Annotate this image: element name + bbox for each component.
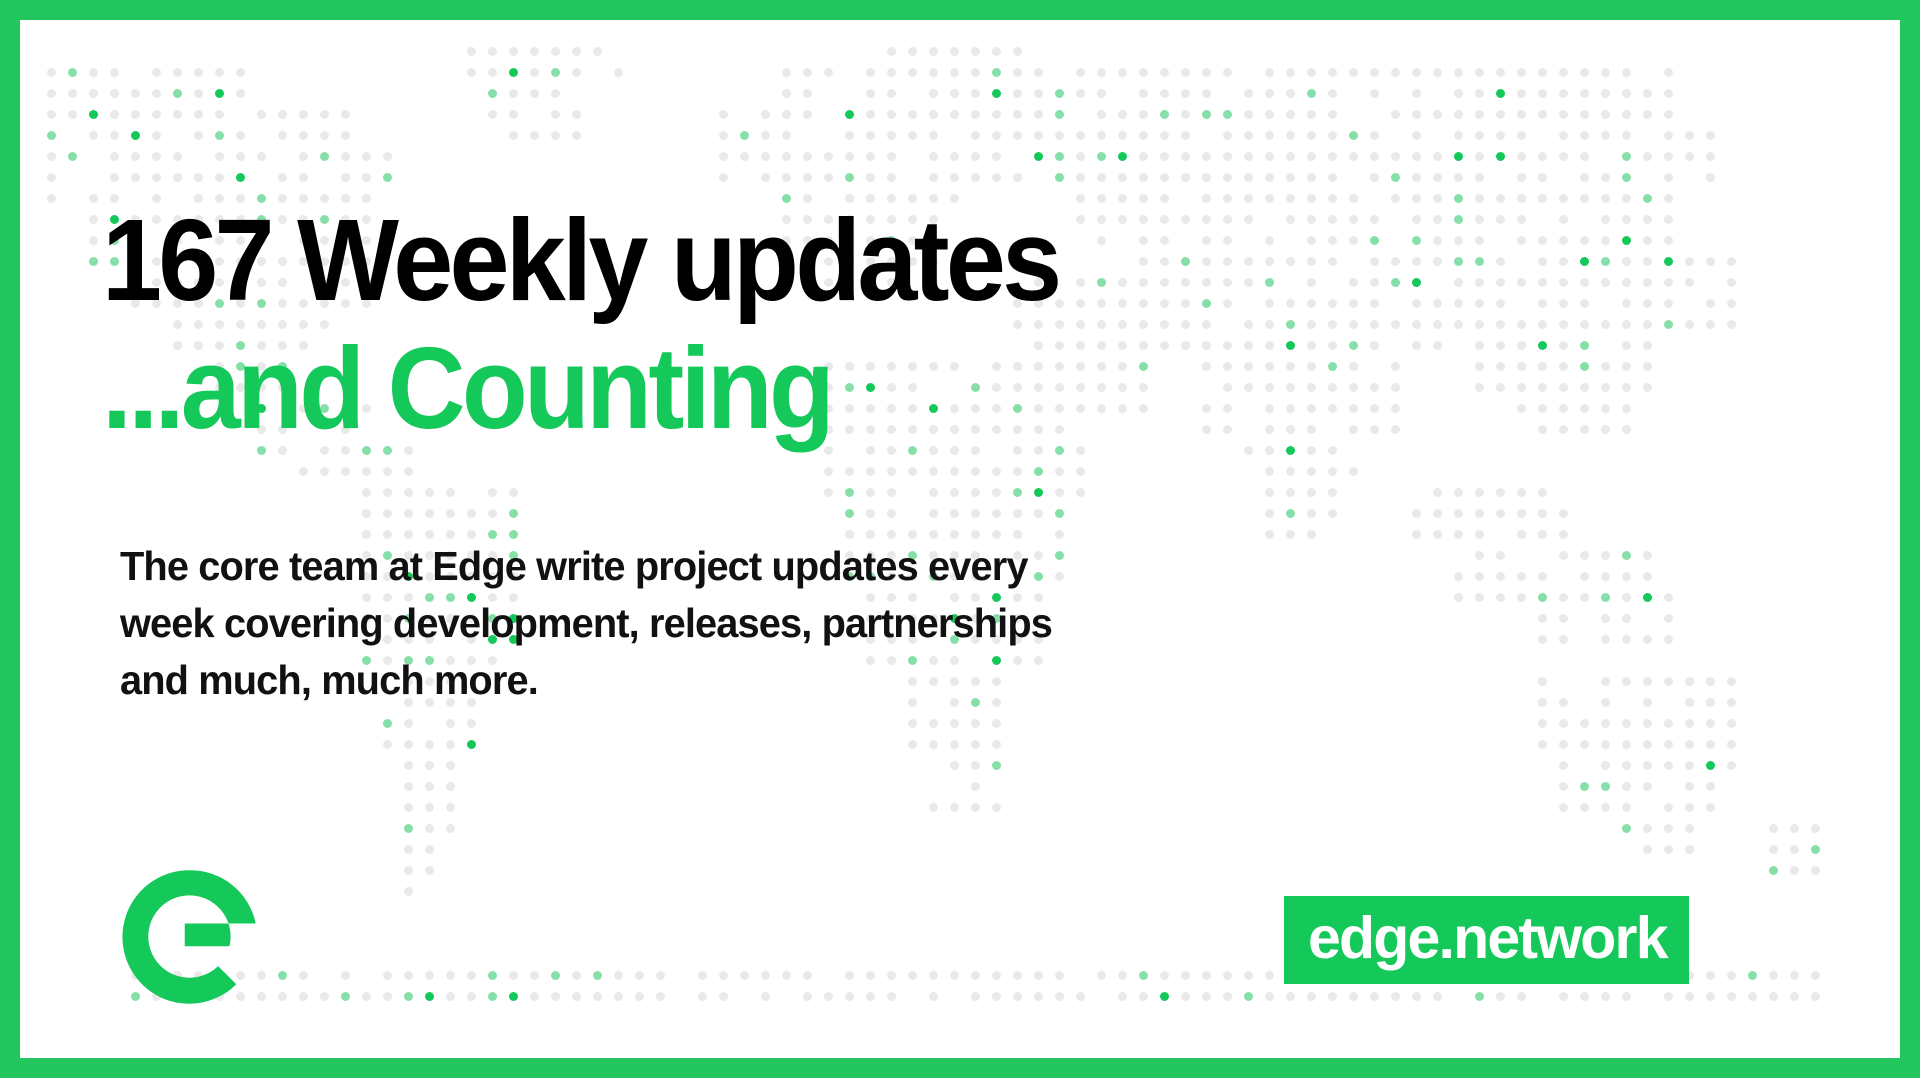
- body-line-1: The core team at Edge write project upda…: [120, 538, 1206, 595]
- promo-card: 167 Weekly updates ...and Counting The c…: [0, 0, 1920, 1078]
- card-content: 167 Weekly updates ...and Counting The c…: [20, 20, 1900, 1058]
- headline-block: 167 Weekly updates ...and Counting: [102, 202, 1602, 446]
- headline-main: 167 Weekly updates: [102, 202, 1497, 318]
- body-line-2: week covering development, releases, par…: [120, 595, 1206, 652]
- body-line-3: and much, much more.: [120, 652, 1206, 709]
- edge-logo-icon: [118, 866, 260, 1008]
- body-copy: The core team at Edge write project upda…: [120, 538, 1240, 709]
- edge-logo-e-icon: [118, 866, 260, 1008]
- card-inner: 167 Weekly updates ...and Counting The c…: [20, 20, 1900, 1058]
- url-badge[interactable]: edge.network: [1284, 896, 1689, 984]
- headline-sub: ...and Counting: [102, 330, 1497, 446]
- url-badge-label: edge.network: [1308, 909, 1667, 968]
